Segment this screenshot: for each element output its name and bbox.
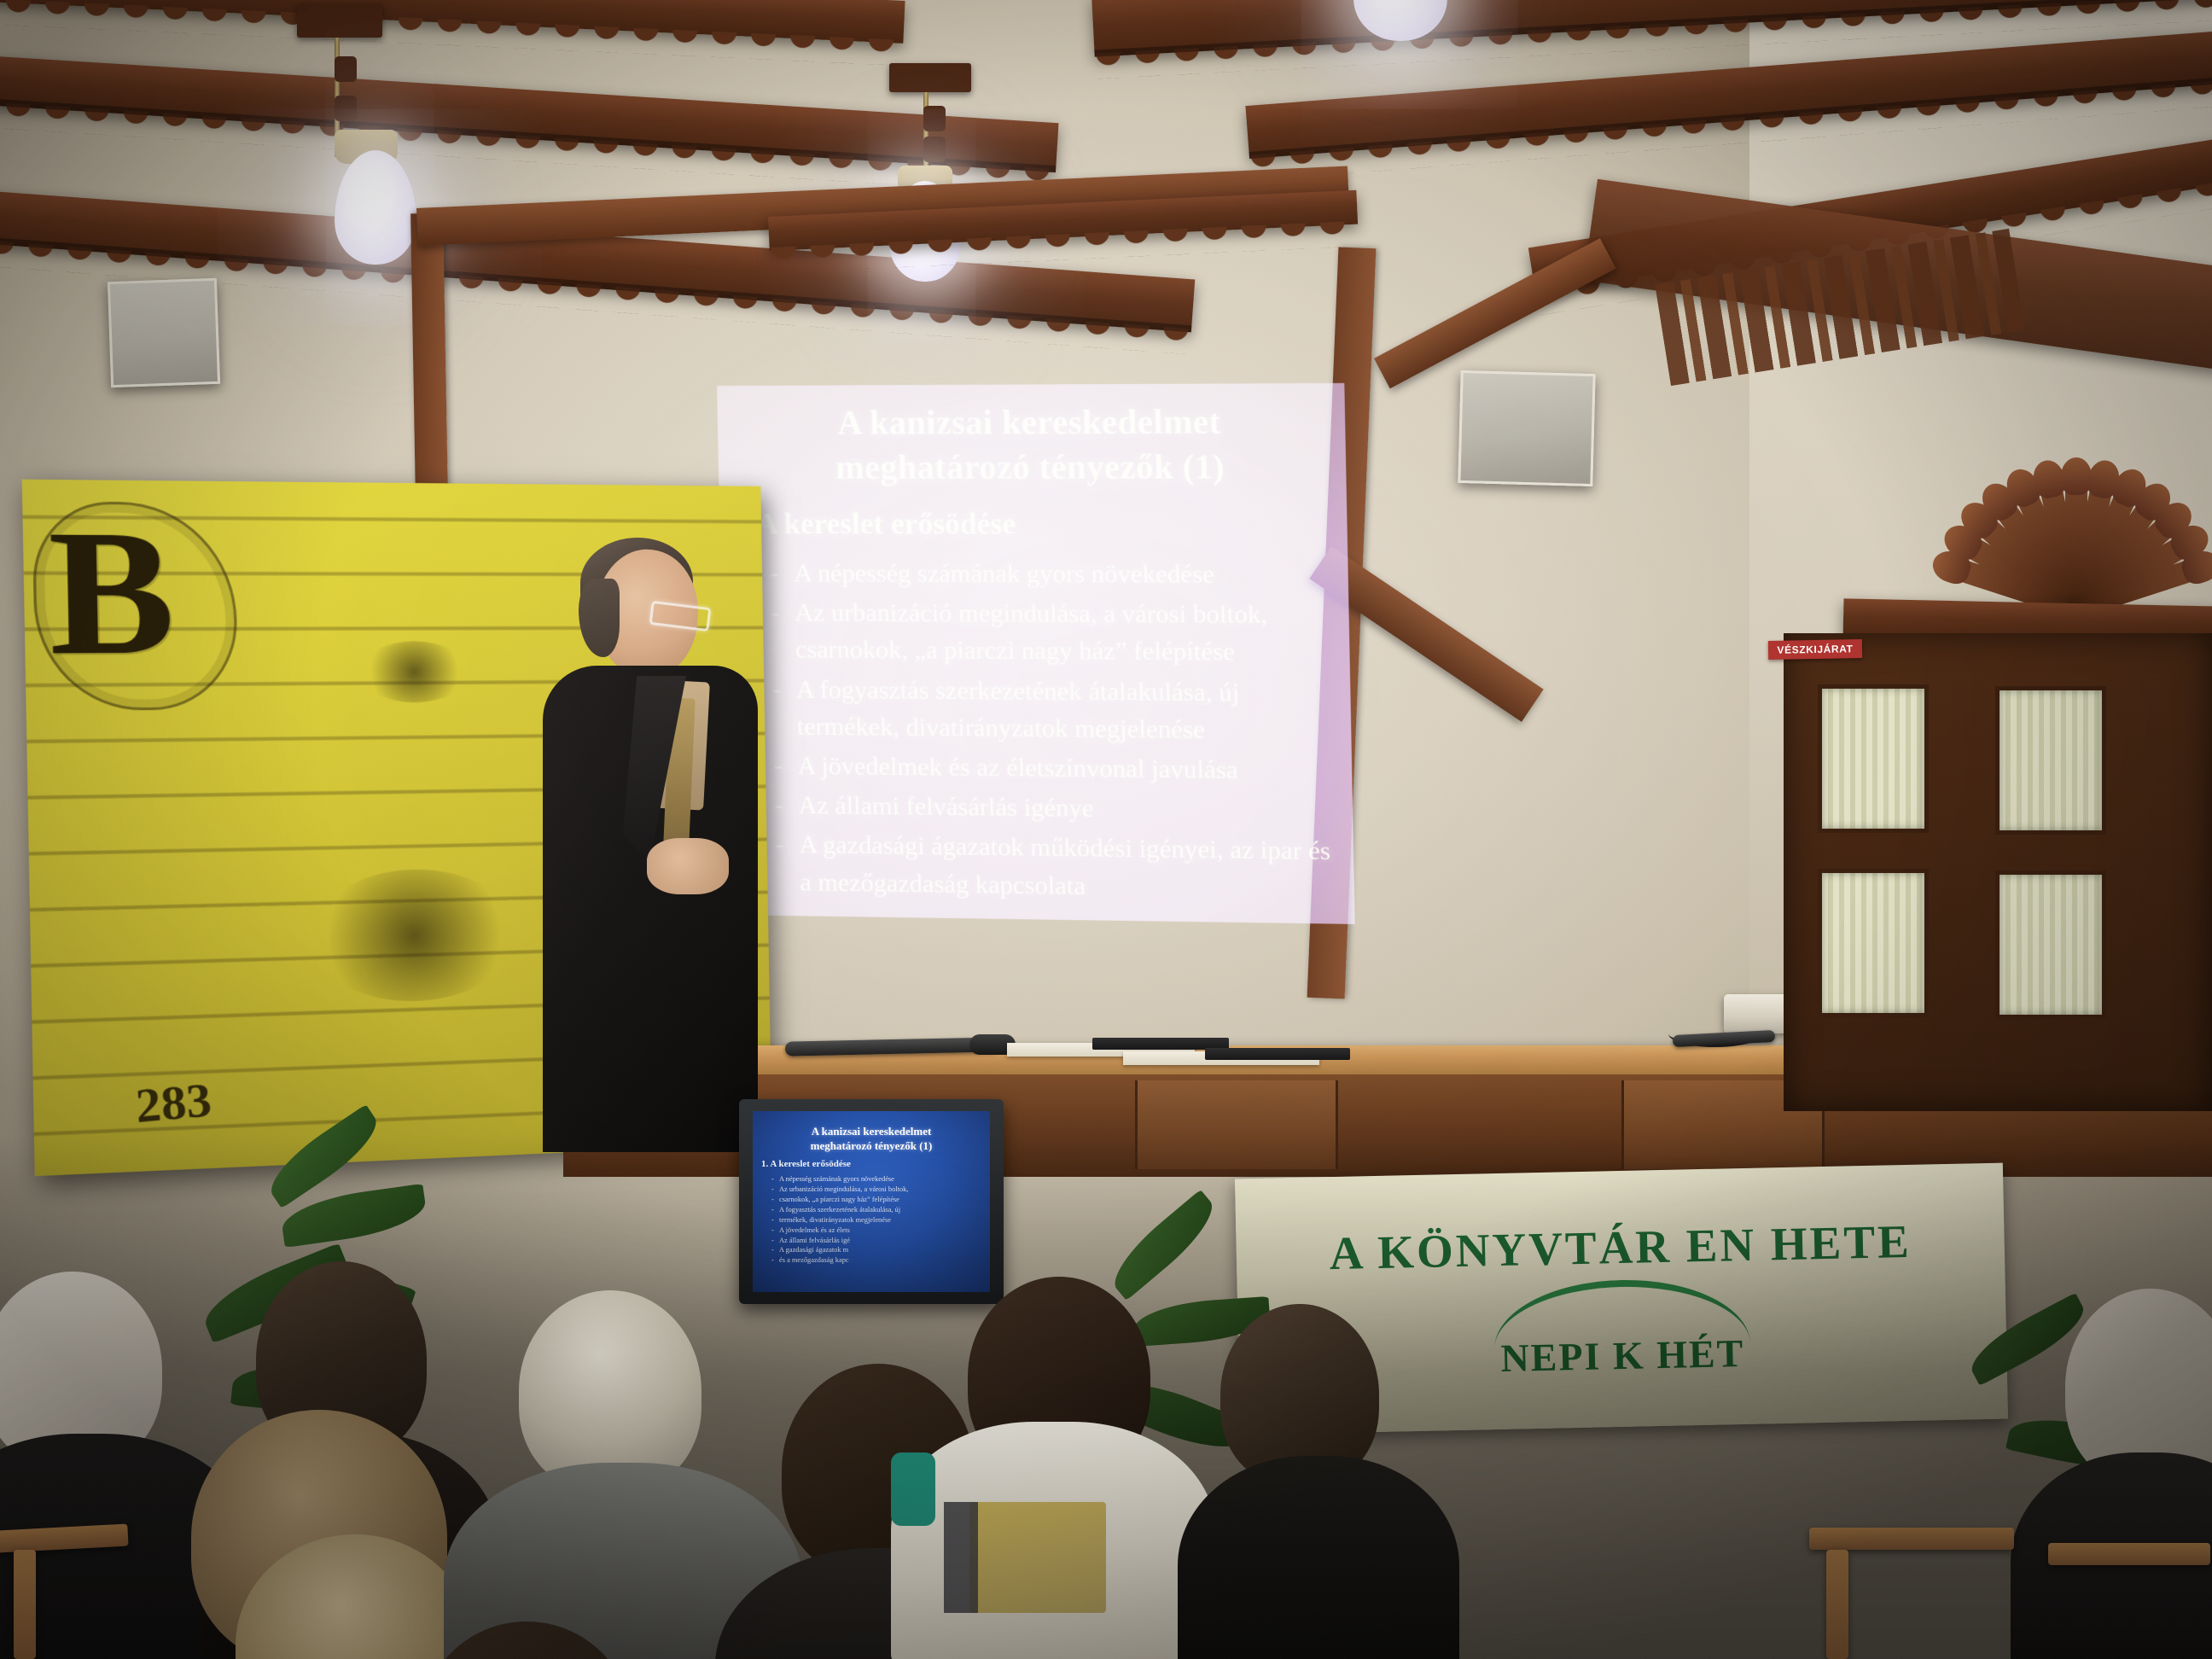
door-pane [1995, 686, 2106, 835]
audience-head [519, 1290, 701, 1492]
hoodie-graphic-bar [944, 1502, 978, 1613]
book-on-table [1205, 1048, 1350, 1060]
door-pane [1818, 684, 1929, 833]
lecture-hall-photo: A kanizsai kereskedelmet meghatározó tén… [0, 0, 2212, 1659]
slide-heading: 1. A kereslet erősödése [728, 507, 1016, 541]
slide-title-line1: A kanizsai kereskedelmet [717, 399, 1345, 445]
door-pane [1818, 869, 1929, 1017]
emergency-exit-sign: VÉSZKIJÁRAT [1768, 639, 1862, 660]
projected-slide: A kanizsai kereskedelmet meghatározó tén… [717, 383, 1355, 924]
slide-bullet: A népesség számának gyors növekedése [765, 555, 1340, 593]
illuminated-initial: B [47, 510, 229, 700]
slide-bullet: A gazdasági ágazatok működési igényei, a… [770, 826, 1346, 908]
door-pane [1995, 870, 2106, 1019]
manuscript-catalog-number: 283 [134, 1072, 213, 1134]
wooden-double-doors[interactable] [1784, 633, 2212, 1111]
hoodie-graphic [969, 1502, 1106, 1613]
slide-title: A kanizsai kereskedelmet meghatározó tén… [717, 399, 1346, 490]
audience [0, 1135, 2212, 1659]
slide-bullet: A jövedelmek és az életszínvonal javulás… [768, 747, 1343, 789]
slide-bullet-list: A népesség számának gyors növekedése Az … [765, 555, 1346, 911]
presenter-hair-side [579, 579, 620, 657]
presenter-hands [647, 838, 729, 894]
hoodie-sleeve-accent [891, 1452, 935, 1526]
slide-title-line2: meghatározó tényezők (1) [718, 444, 1346, 490]
chair [14, 1550, 36, 1659]
presenter [495, 538, 802, 1152]
wall-speaker-left [108, 278, 220, 387]
wall-speaker-right [1458, 370, 1595, 486]
chair [1809, 1528, 2014, 1550]
chair [1826, 1550, 1848, 1659]
slide-bullet: Az urbanizáció megindulása, a városi bol… [765, 594, 1342, 671]
audience-shoulders [1178, 1456, 1459, 1659]
chair [2048, 1543, 2210, 1565]
slide-bullet: Az állami felvásárlás igénye [769, 787, 1344, 830]
slide-bullet: A fogyasztás szerkezetének átalakulása, … [766, 671, 1342, 749]
carved-wood-rosette [1937, 326, 2212, 608]
